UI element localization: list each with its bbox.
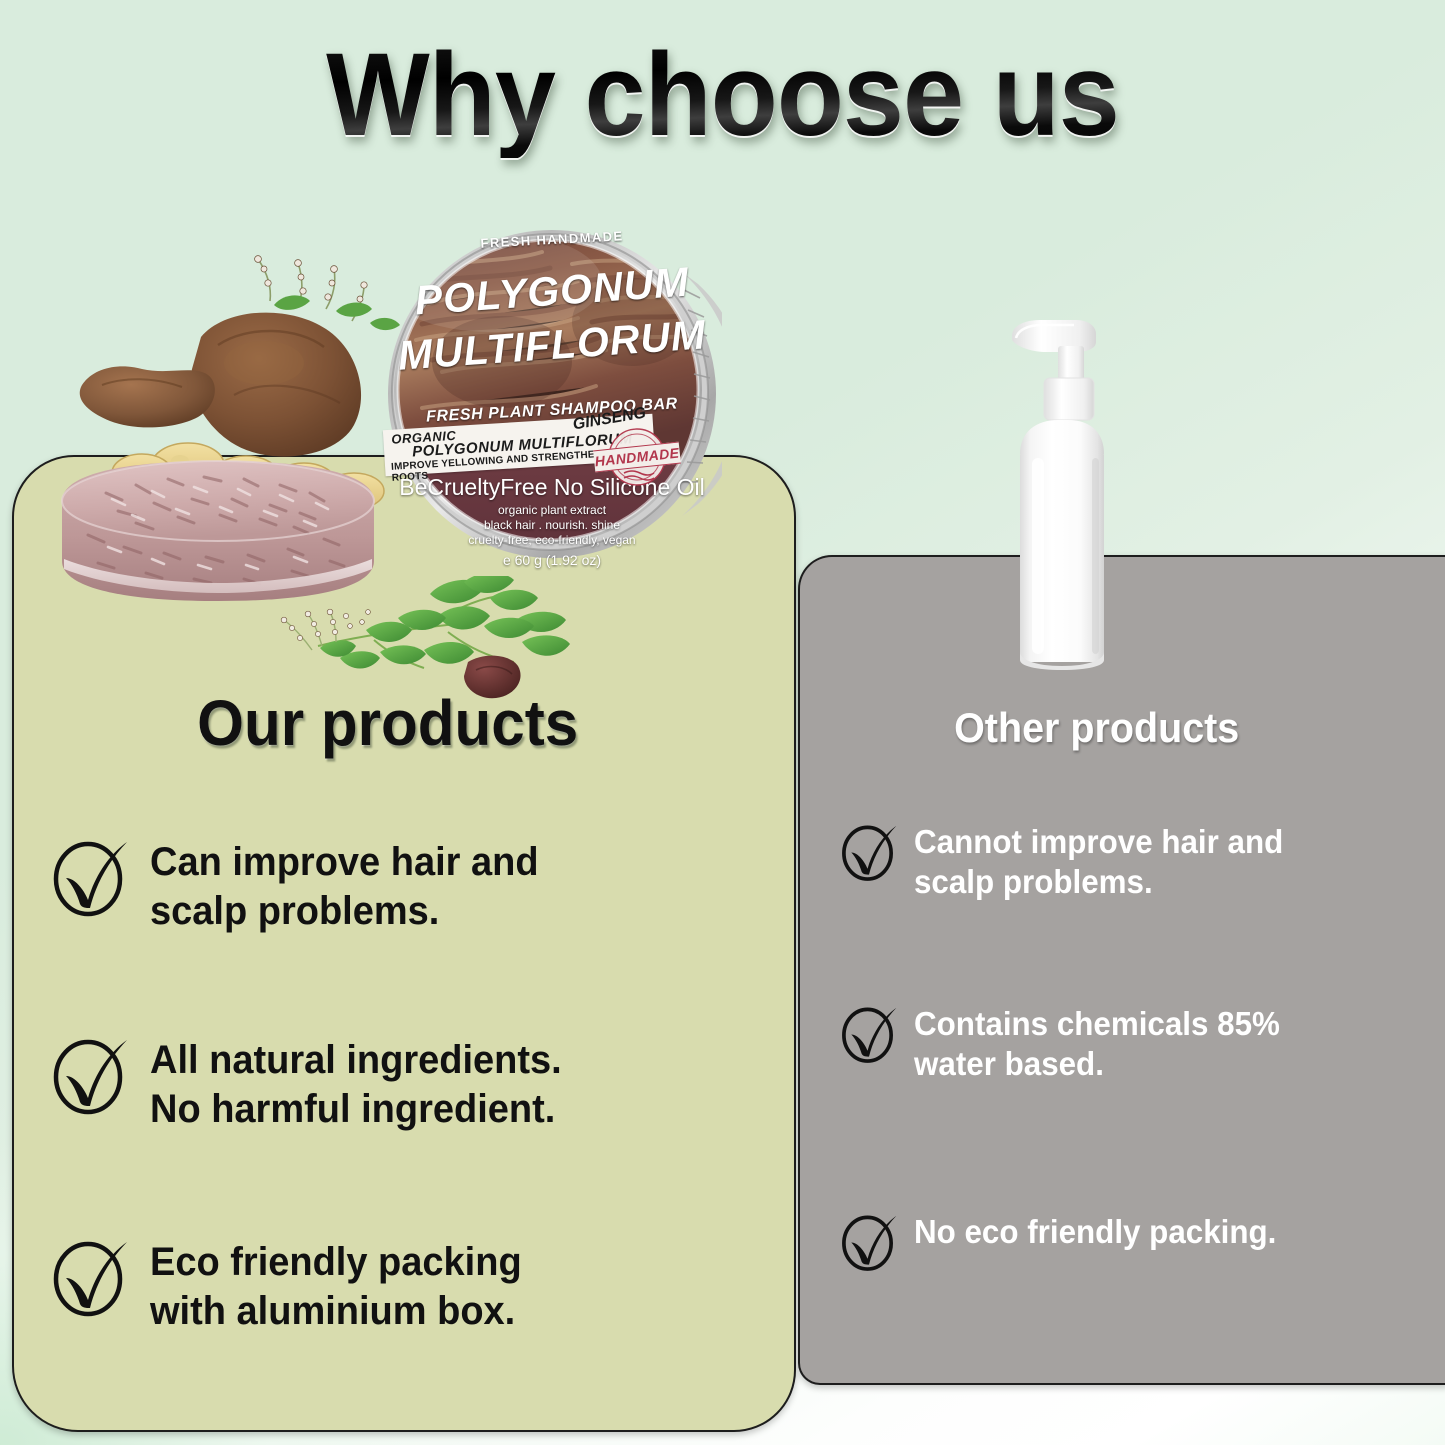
- tin-subtitle: FRESH PLANT SHAMPOO BAR: [382, 393, 722, 429]
- check-circle-icon: [838, 1210, 900, 1272]
- list-item-text: No eco friendly packing.: [914, 1210, 1276, 1252]
- list-item: Contains chemicals 85% water based.: [838, 1002, 1428, 1085]
- list-item: Can improve hair and scalp problems.: [48, 832, 748, 936]
- tin-band-ginseng: GINSENG: [572, 404, 648, 434]
- page-title: Why choose us: [51, 34, 1395, 158]
- tin-band-organic: ORGANIC: [391, 428, 457, 447]
- check-circle-icon: [48, 1234, 132, 1318]
- check-circle-icon: [48, 834, 132, 918]
- list-item: All natural ingredients. No harmful ingr…: [48, 1030, 748, 1134]
- check-circle-icon: [838, 820, 900, 882]
- list-item: Cannot improve hair and scalp problems.: [838, 820, 1428, 903]
- our-products-heading: Our products: [197, 686, 578, 760]
- check-circle-icon: [48, 1032, 132, 1116]
- list-item-line1: All natural ingredients.: [150, 1036, 562, 1085]
- list-item-text: All natural ingredients. No harmful ingr…: [150, 1030, 562, 1134]
- tin-product-name-line2: MULTIFLORUM: [381, 310, 723, 381]
- list-item-line2: with aluminium box.: [150, 1287, 522, 1336]
- list-item-line2: water based.: [914, 1044, 1280, 1084]
- list-item: No eco friendly packing.: [838, 1210, 1428, 1272]
- list-item-text: Contains chemicals 85% water based.: [914, 1002, 1280, 1085]
- tin-product-name-line1: POLYGONUM: [381, 256, 723, 327]
- list-item-line1: Cannot improve hair and: [914, 822, 1283, 862]
- infographic-canvas: Why choose us: [0, 0, 1445, 1445]
- list-item-line2: No harmful ingredient.: [150, 1085, 562, 1134]
- list-item-line2: scalp problems.: [150, 887, 539, 936]
- list-item-line1: No eco friendly packing.: [914, 1212, 1276, 1252]
- list-item-text: Cannot improve hair and scalp problems.: [914, 820, 1283, 903]
- other-products-heading: Other products: [954, 704, 1239, 752]
- list-item-line1: Contains chemicals 85%: [914, 1004, 1280, 1044]
- list-item: Eco friendly packing with aluminium box.: [48, 1232, 748, 1336]
- check-circle-icon: [838, 1002, 900, 1064]
- list-item-line2: scalp problems.: [914, 862, 1283, 902]
- tin-fresh-handmade: FRESH HANDMADE: [382, 223, 722, 256]
- list-item-line1: Can improve hair and: [150, 838, 539, 887]
- list-item-text: Can improve hair and scalp problems.: [150, 832, 539, 936]
- list-item-text: Eco friendly packing with aluminium box.: [150, 1232, 522, 1336]
- list-item-line1: Eco friendly packing: [150, 1238, 522, 1287]
